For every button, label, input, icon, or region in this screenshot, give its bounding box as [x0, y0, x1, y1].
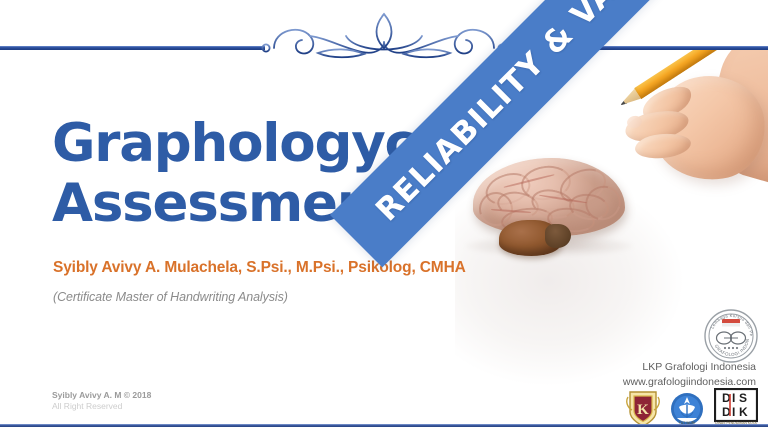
svg-text:K: K — [637, 402, 649, 418]
disdik-logo-icon: D I S D I K DINAS PENDIDIKAN KOTA BANDUN… — [714, 388, 758, 428]
brainstem — [545, 224, 571, 248]
tut-wuri-handayani-logo-icon: TUT WURI HANDAYANI — [670, 392, 704, 428]
organization-name: LKP Grafologi Indonesia — [623, 360, 756, 375]
grafologi-indonesia-round-seal-icon: Lembaga Kursus dan Pelatihan GRAFOLOGI I… — [703, 308, 759, 364]
kursus-shield-logo-icon: K LEMBAGA KURSUS — [626, 388, 660, 428]
brand-text-block: LKP Grafologi Indonesia www.grafologiind… — [623, 360, 756, 390]
author-name: Syibly Avivy A. Mulachela, S.Psi., M.Psi… — [53, 259, 466, 277]
copyright-block: Syibly Avivy A. M © 2018 All Right Reser… — [52, 390, 151, 413]
svg-text:S: S — [739, 391, 747, 405]
partner-logos: K LEMBAGA KURSUS TUT WURI HANDAYANI D — [626, 388, 758, 428]
slide-canvas: Graphologycal Assessment Syibly Avivy A.… — [0, 0, 768, 433]
author-certificate: (Certificate Master of Handwriting Analy… — [53, 290, 288, 304]
copyright-line-2: All Right Reserved — [52, 401, 151, 412]
top-rule-left — [0, 46, 265, 50]
bottom-rule — [0, 424, 768, 427]
hand-with-pencil-icon — [595, 50, 768, 246]
svg-text:I: I — [732, 405, 735, 419]
copyright-line-1: Syibly Avivy A. M © 2018 — [52, 390, 151, 401]
flourish-divider-ornament — [252, 8, 516, 70]
svg-text:K: K — [739, 405, 748, 419]
svg-text:I: I — [732, 391, 735, 405]
